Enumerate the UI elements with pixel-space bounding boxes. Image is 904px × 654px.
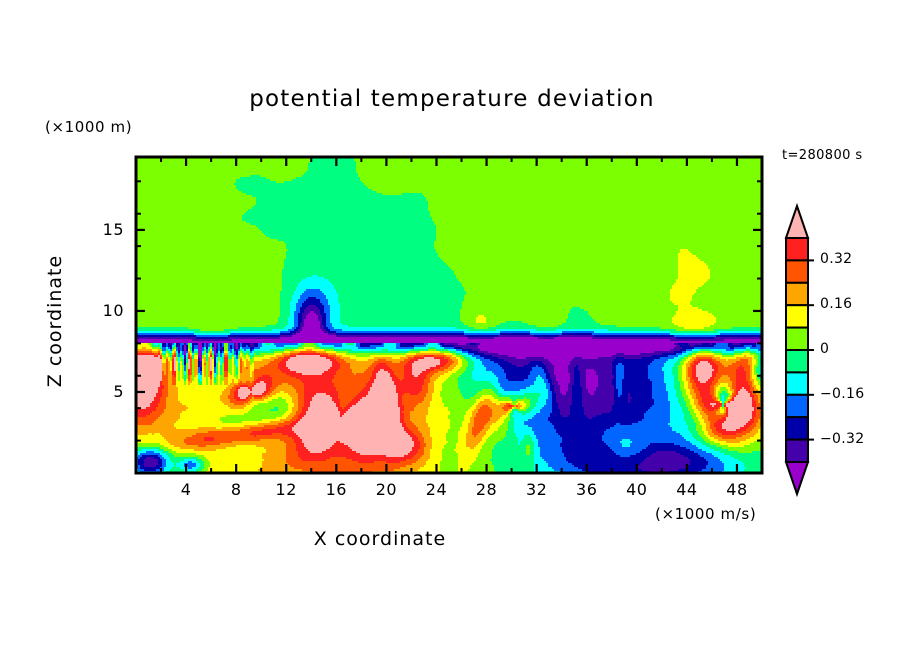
- colorbar-tick-label: 0.16: [820, 296, 852, 312]
- colorbar: [786, 206, 814, 494]
- x-tick-label: 16: [316, 480, 356, 499]
- x-tick-label: 40: [617, 480, 657, 499]
- x-tick-label: 36: [567, 480, 607, 499]
- colorbar-tick-label: −0.16: [820, 386, 864, 402]
- colorbar-tick-label: 0: [820, 341, 829, 357]
- x-tick-label: 4: [166, 480, 206, 499]
- contour-plot: [0, 0, 904, 654]
- x-tick-label: 24: [416, 480, 456, 499]
- x-tick-label: 32: [517, 480, 557, 499]
- colorbar-tick-label: −0.32: [820, 431, 864, 447]
- y-tick-label: 10: [84, 301, 124, 320]
- x-tick-label: 20: [366, 480, 406, 499]
- x-tick-label: 12: [266, 480, 306, 499]
- x-tick-label: 48: [717, 480, 757, 499]
- contour-field: [136, 157, 763, 474]
- x-tick-label: 44: [667, 480, 707, 499]
- y-tick-label: 15: [84, 220, 124, 239]
- figure-canvas: potential temperature deviation (×1000 m…: [0, 0, 904, 654]
- x-tick-label: 28: [467, 480, 507, 499]
- y-tick-label: 5: [84, 382, 124, 401]
- x-tick-label: 8: [216, 480, 256, 499]
- colorbar-tick-label: 0.32: [820, 251, 852, 267]
